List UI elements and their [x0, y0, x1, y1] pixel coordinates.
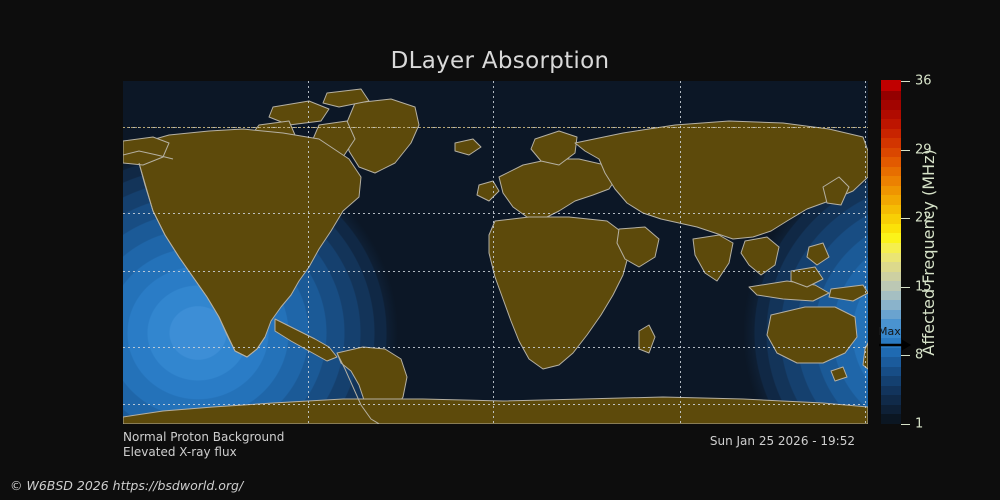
colorbar-tick-mark: [901, 287, 910, 288]
max-arrow-icon: [878, 338, 912, 352]
colorbar-segment: [881, 119, 901, 129]
colorbar-segment: [881, 233, 901, 243]
page-title: DLayer Absorption: [0, 48, 1000, 74]
colorbar-segment: [881, 109, 901, 119]
colorbar-segment: [881, 128, 901, 138]
colorbar[interactable]: 1815222936: [881, 81, 901, 424]
colorbar-segment: [881, 376, 901, 386]
colorbar-segment: [881, 300, 901, 310]
colorbar-segment: [881, 138, 901, 148]
colorbar-axis-label: Affected Frequency (MHz): [915, 81, 943, 424]
colorbar-segment: [881, 185, 901, 195]
colorbar-segment: [881, 261, 901, 271]
colorbar-segment: [881, 290, 901, 300]
colorbar-segment: [881, 80, 901, 90]
colorbar-gradient: [881, 81, 901, 424]
max-marker-label: Max: [878, 326, 901, 338]
colorbar-segment: [881, 147, 901, 157]
colorbar-segment: [881, 195, 901, 205]
timestamp: Sun Jan 25 2026 - 19:52: [0, 434, 855, 448]
colorbar-segment: [881, 176, 901, 186]
map-canvas[interactable]: [123, 81, 868, 424]
colorbar-segment: [881, 395, 901, 405]
colorbar-tick-mark: [901, 218, 910, 219]
colorbar-segment: [881, 252, 901, 262]
copyright-footer: © W6BSD 2026 https://bsdworld.org/: [10, 478, 243, 493]
colorbar-segment: [881, 357, 901, 367]
colorbar-segment: [881, 414, 901, 424]
colorbar-segment: [881, 309, 901, 319]
colorbar-segment: [881, 281, 901, 291]
colorbar-segment: [881, 242, 901, 252]
colorbar-segment: [881, 271, 901, 281]
colorbar-segment: [881, 204, 901, 214]
colorbar-segment: [881, 99, 901, 109]
colorbar-tick-mark: [901, 150, 910, 151]
colorbar-segment: [881, 223, 901, 233]
colorbar-segment: [881, 214, 901, 224]
colorbar-tick-mark: [901, 81, 910, 82]
colorbar-segment: [881, 366, 901, 376]
colorbar-tick-mark: [901, 424, 910, 425]
colorbar-tick-mark: [901, 355, 910, 356]
colorbar-segment: [881, 404, 901, 414]
colorbar-segment: [881, 157, 901, 167]
colorbar-segment: [881, 385, 901, 395]
max-marker: Max: [878, 326, 912, 354]
world-map-svg: [123, 81, 868, 424]
colorbar-segment: [881, 90, 901, 100]
colorbar-segment: [881, 166, 901, 176]
